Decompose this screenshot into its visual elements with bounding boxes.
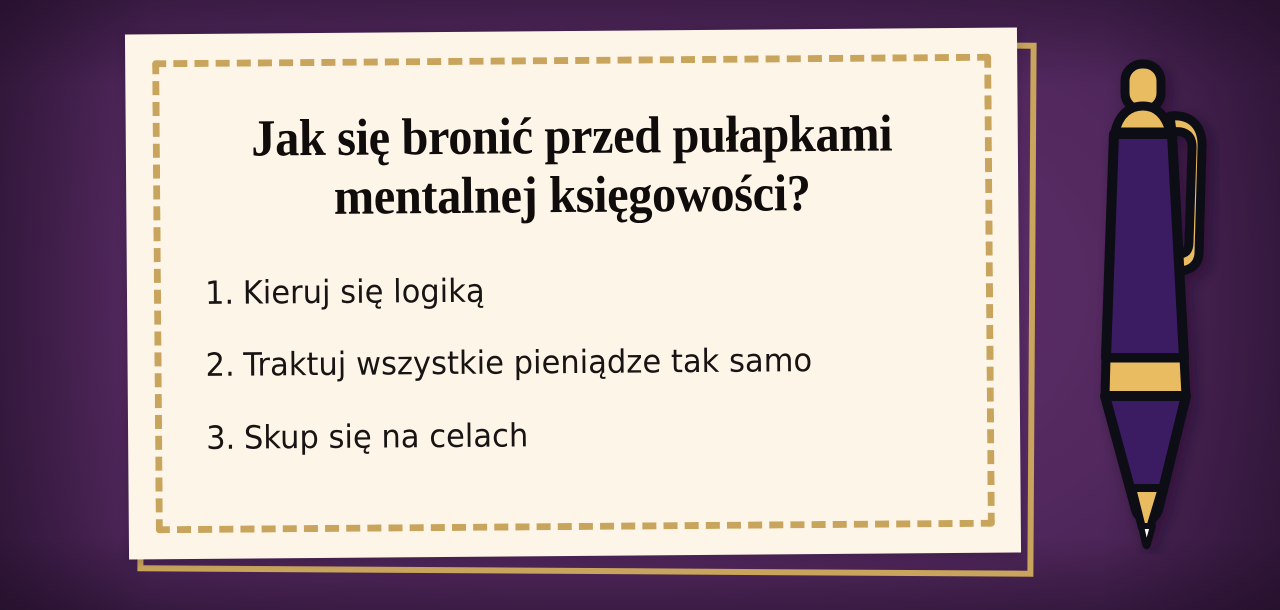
paper-card: Jak się bronić przed pułapkami mentalnej… bbox=[125, 28, 1021, 560]
list-item: 1. Kieruj się logiką bbox=[205, 269, 929, 312]
pen-grip-band bbox=[1105, 358, 1186, 396]
pen-icon bbox=[1092, 58, 1220, 554]
title-line-2: mentalnej księgowości? bbox=[334, 165, 811, 226]
pen-group bbox=[1105, 64, 1202, 546]
pen-collar bbox=[1115, 106, 1170, 132]
list-item-number: 1. bbox=[205, 274, 234, 312]
list-item-label: Skup się na celach bbox=[244, 417, 529, 457]
list-item-number: 3. bbox=[206, 420, 235, 458]
card-content: Jak się bronić przed pułapkami mentalnej… bbox=[125, 28, 1021, 560]
list-item: 3. Skup się na celach bbox=[206, 414, 930, 457]
list-item-number: 2. bbox=[205, 347, 234, 385]
pen-barrel bbox=[1106, 134, 1184, 358]
tips-list: 1. Kieruj się logiką 2. Traktuj wszystki… bbox=[205, 268, 964, 457]
list-item-label: Traktuj wszystkie pieniądze tak samo bbox=[243, 342, 812, 384]
pen-ball-tip bbox=[1141, 526, 1153, 546]
page-title: Jak się bronić przed pułapkami mentalnej… bbox=[209, 90, 935, 228]
title-line-1: Jak się bronić przed pułapkami bbox=[251, 105, 892, 167]
list-item-label: Kieruj się logiką bbox=[243, 272, 485, 312]
list-item: 2. Traktuj wszystkie pieniądze tak samo bbox=[205, 341, 929, 384]
